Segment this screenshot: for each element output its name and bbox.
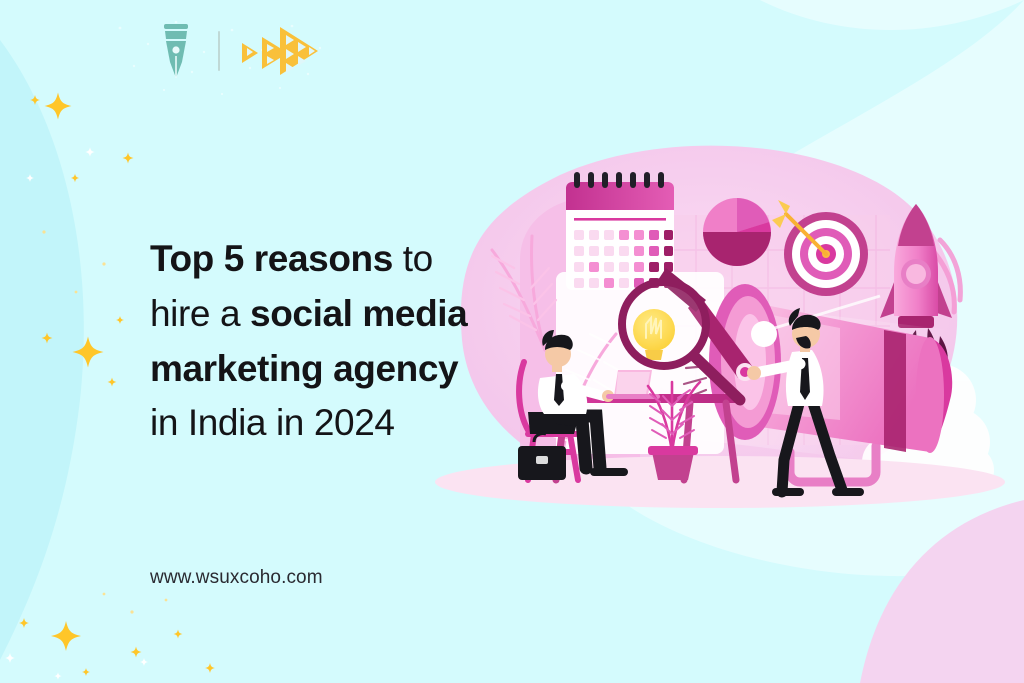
headline-line-1: Top 5 reasons to xyxy=(150,232,510,287)
logo-divider xyxy=(218,31,220,71)
headline-bold-2: social media xyxy=(250,293,467,334)
fountain-pen-nib-icon xyxy=(150,22,202,80)
headline-bold-1: Top 5 reasons xyxy=(150,238,393,279)
headline-line-4: in India in 2024 xyxy=(150,396,510,451)
headline-bold-3: marketing agency xyxy=(150,348,458,389)
website-url[interactable]: www.wsuxcoho.com xyxy=(150,567,323,589)
headline-plain-1: to xyxy=(393,238,433,279)
calendar-icon xyxy=(566,172,674,290)
page-title: Top 5 reasons to hire a social media mar… xyxy=(150,232,510,451)
banner-canvas: Top 5 reasons to hire a social media mar… xyxy=(0,0,1024,683)
triangles-play-mark-icon xyxy=(242,25,320,77)
pie-chart-icon xyxy=(703,198,771,266)
headline-line-2: hire a social media xyxy=(150,287,510,342)
logo-bar[interactable] xyxy=(150,22,320,80)
headline-plain-4: in India in 2024 xyxy=(150,402,395,443)
headline-line-3: marketing agency xyxy=(150,342,510,397)
headline-plain-2: hire a xyxy=(150,293,250,334)
